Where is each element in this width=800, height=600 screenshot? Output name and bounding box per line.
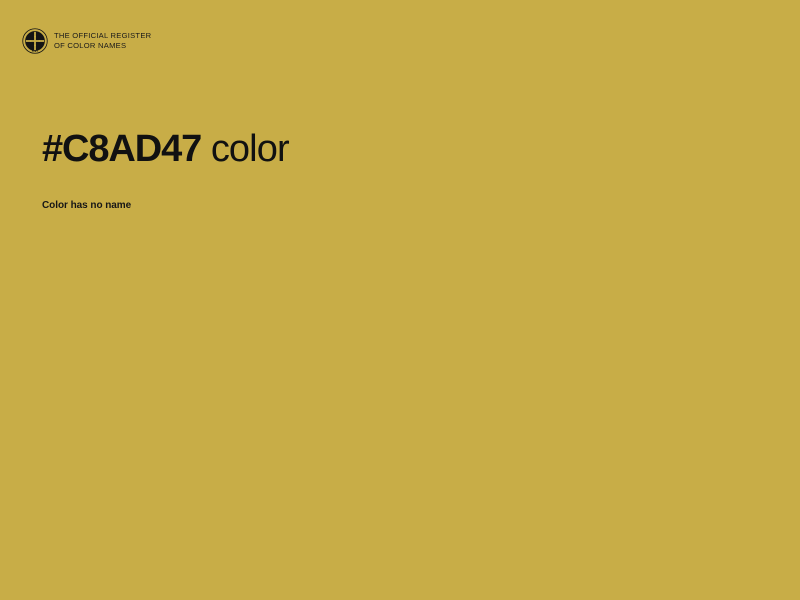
brand-wordmark: THE OFFICIAL REGISTER OF COLOR NAMES: [54, 31, 151, 52]
color-detail: #C8AD47 color Color has no name: [42, 126, 762, 172]
brand-wordmark-line-2: OF COLOR NAMES: [54, 41, 151, 51]
color-name-status: Color has no name: [42, 199, 131, 212]
color-page: THE OFFICIAL REGISTER OF COLOR NAMES #C8…: [0, 0, 800, 600]
brand-wordmark-line-1: THE OFFICIAL REGISTER: [54, 31, 151, 41]
color-hex-value: #C8AD47: [42, 128, 201, 170]
register-seal-icon: [22, 28, 48, 54]
brand-lockup[interactable]: THE OFFICIAL REGISTER OF COLOR NAMES: [22, 28, 151, 54]
page-title-suffix: color: [201, 128, 289, 170]
page-title: #C8AD47 color: [42, 126, 762, 172]
